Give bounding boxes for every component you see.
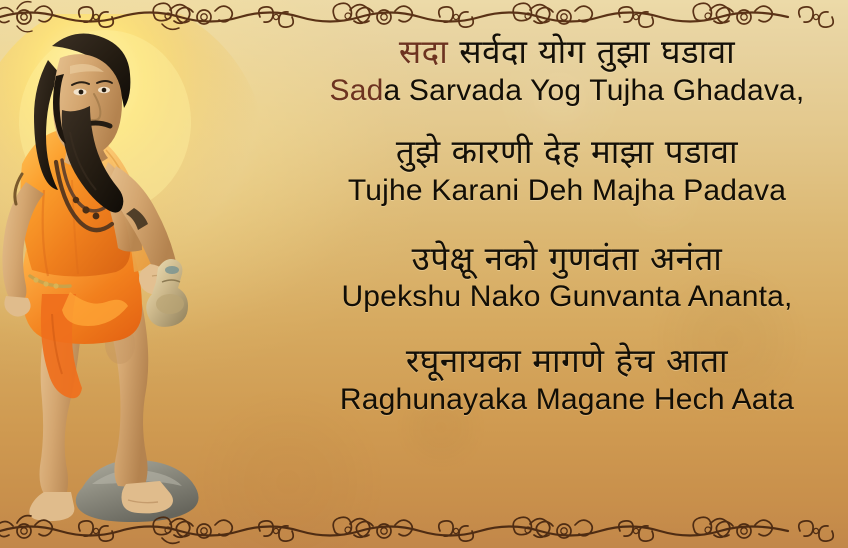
couplet-3-roman: Upekshu Nako Gunvanta Ananta, — [286, 280, 848, 315]
saint-figure-illustration — [0, 14, 300, 526]
couplet-2-devanagari: तुझे कारणी देह माझा पडावा — [286, 132, 848, 172]
couplet-4: रघूनायका मागणे हेच आता Raghunayaka Magan… — [286, 341, 848, 417]
couplet-1: सदा सर्वदा योग तुझा घडावा Sada Sarvada Y… — [286, 32, 848, 108]
couplet-4-devanagari: रघूनायका मागणे हेच आता — [286, 341, 848, 381]
couplet-1-devanagari-accent: सदा — [399, 32, 448, 71]
couplet-2: तुझे कारणी देह माझा पडावा Tujhe Karani D… — [286, 132, 848, 208]
couplet-1-roman-accent: Sad — [330, 74, 384, 107]
couplet-1-roman: Sada Sarvada Yog Tujha Ghadava, — [286, 74, 848, 109]
couplet-1-devanagari-rest: सर्वदा योग तुझा घडावा — [448, 32, 735, 71]
verse-image-canvas: सदा सर्वदा योग तुझा घडावा Sada Sarvada Y… — [0, 0, 848, 548]
couplet-4-roman: Raghunayaka Magane Hech Aata — [286, 383, 848, 418]
couplet-3: उपेक्षू नको गुणवंता अनंता Upekshu Nako G… — [286, 239, 848, 315]
couplet-3-devanagari: उपेक्षू नको गुणवंता अनंता — [286, 239, 848, 279]
couplet-1-devanagari: सदा सर्वदा योग तुझा घडावा — [286, 32, 848, 72]
couplet-2-roman: Tujhe Karani Deh Majha Padava — [286, 174, 848, 209]
couplet-1-roman-rest: a Sarvada Yog Tujha Ghadava, — [384, 74, 805, 107]
verse-text-block: सदा सर्वदा योग तुझा घडावा Sada Sarvada Y… — [286, 22, 848, 522]
